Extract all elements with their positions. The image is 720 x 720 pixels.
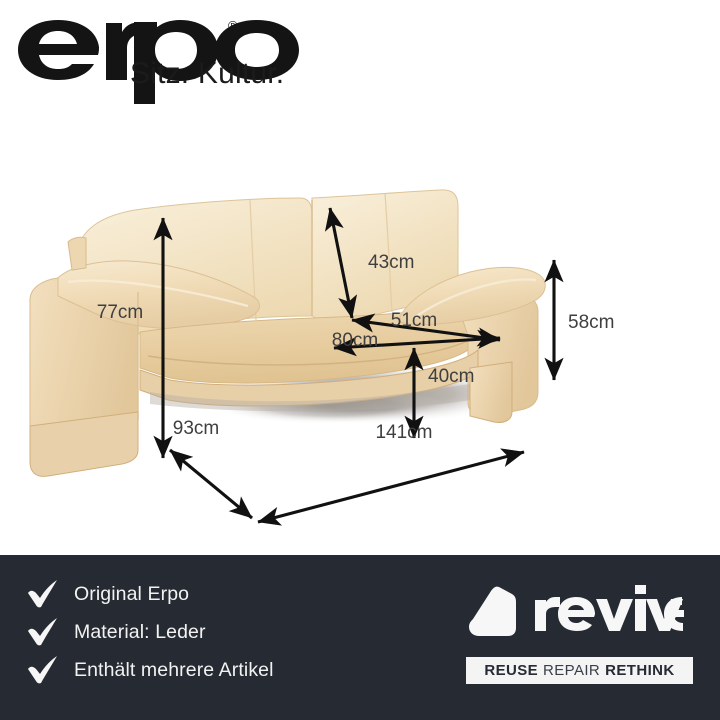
check-icon <box>26 655 60 685</box>
dimension-width-141-label: 141cm <box>375 422 432 443</box>
footer-bar: Original Erpo Material: Leder Enthält me… <box>0 555 720 720</box>
badge-word-reuse: REUSE <box>484 662 538 679</box>
badge-word-repair: REPAIR <box>543 662 600 679</box>
dimension-depth-93-label: 93cm <box>173 418 219 439</box>
check-icon <box>26 617 60 647</box>
dimension-height-77-label: 77cm <box>97 302 143 323</box>
sofa-illustration <box>30 190 545 477</box>
revive-tagline-badge: REUSE REPAIR RETHINK <box>466 657 693 684</box>
revive-logo: REUSE REPAIR RETHINK <box>466 579 698 699</box>
check-icon <box>26 579 60 609</box>
dimension-inner-width-80-label: 80cm <box>332 330 378 351</box>
revive-rounded-quad-icon <box>466 584 522 640</box>
feature-label: Enthält mehrere Artikel <box>74 659 274 682</box>
revive-wordmark-text <box>532 583 684 641</box>
feature-label: Material: Leder <box>74 621 206 644</box>
brand-tagline: Sitz. Kultur. <box>130 57 284 91</box>
dimension-seat-height-40-label: 40cm <box>428 366 474 387</box>
dimension-arm-height-58-label: 58cm <box>568 312 614 333</box>
dimension-width-141-arrow <box>258 452 524 522</box>
feature-label: Original Erpo <box>74 583 189 606</box>
backrest-top-tip <box>68 237 86 270</box>
badge-word-rethink: RETHINK <box>605 662 674 679</box>
product-photo-with-dimensions: 77cm 43cm 51cm 80cm 40cm 58cm 93cm 141cm <box>0 120 720 555</box>
feature-list: Original Erpo Material: Leder Enthält me… <box>26 575 426 689</box>
dimension-depth-93-arrow <box>170 450 252 518</box>
right-leg <box>470 362 512 423</box>
feature-item-material: Material: Leder <box>26 613 426 651</box>
revive-logo-row <box>466 579 698 645</box>
feature-item-original: Original Erpo <box>26 575 426 613</box>
dimension-backrest-43-label: 43cm <box>368 252 414 273</box>
registered-trademark-icon: ® <box>228 19 238 32</box>
dimension-seat-depth-51-label: 51cm <box>391 310 437 331</box>
product-listing-image: ® Sitz. Kultur. <box>0 0 720 720</box>
feature-item-multiple: Enthält mehrere Artikel <box>26 651 426 689</box>
